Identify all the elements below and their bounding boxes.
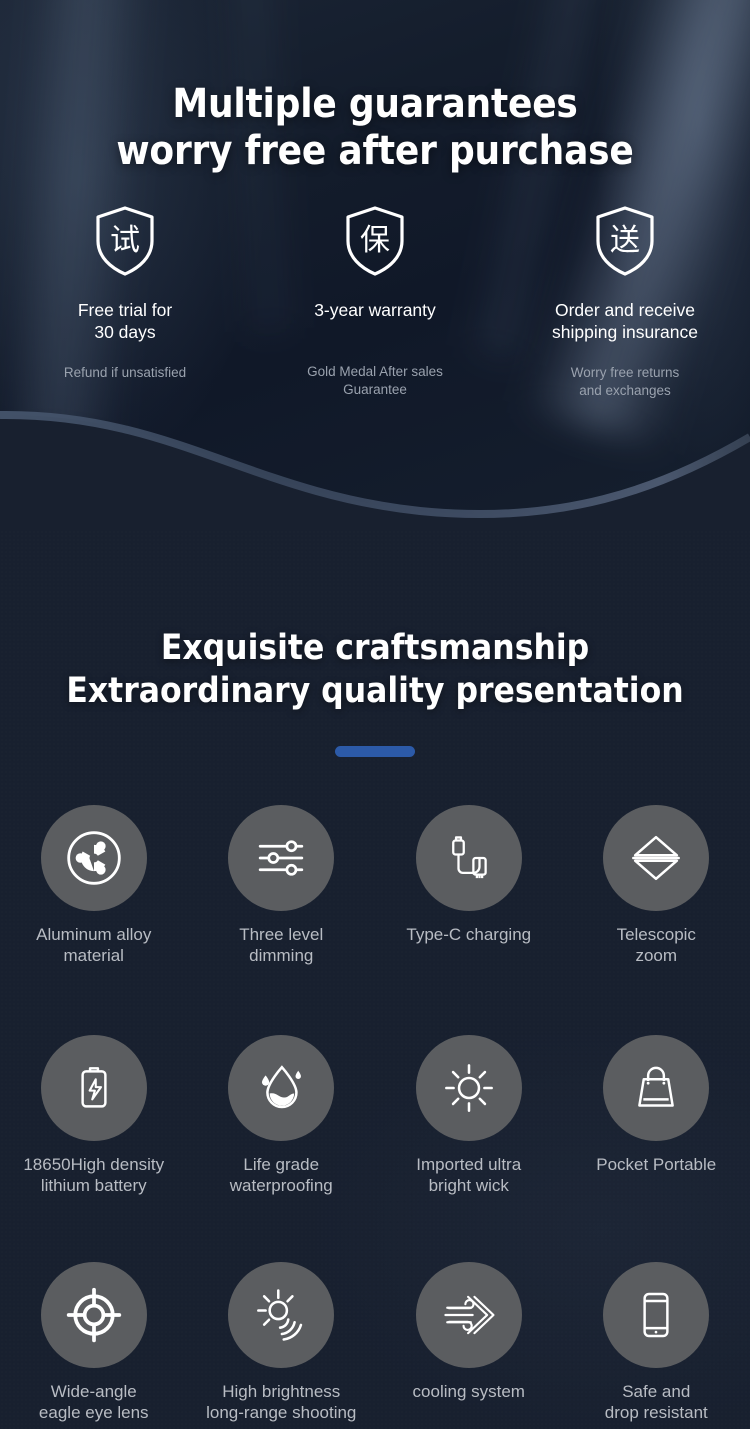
feature-label-line-1: Aluminum alloy <box>36 925 151 944</box>
feature-row: Wide-angle eagle eye lens <box>0 1262 750 1424</box>
feature-label-line-1: Three level <box>239 925 323 944</box>
svg-text:保: 保 <box>360 223 390 258</box>
feature-item-three-level-dimming[interactable]: Three level dimming <box>188 805 376 967</box>
handbag-icon <box>603 1035 709 1141</box>
battery-charge-icon <box>41 1035 147 1141</box>
feature-label-line-2: eagle eye lens <box>39 1403 149 1422</box>
feature-label-line-2: waterproofing <box>230 1176 333 1195</box>
section-title-line-2: Extraordinary quality presentation <box>0 670 750 713</box>
water-drop-icon <box>228 1035 334 1141</box>
top-edge-highlight <box>0 0 750 4</box>
feature-label-line-1: Type-C charging <box>406 925 531 944</box>
product-feature-page: Multiple guarantees worry free after pur… <box>0 0 750 1429</box>
feature-row: Aluminum alloy material <box>0 805 750 967</box>
feature-label-line-1: Wide-angle <box>51 1382 137 1401</box>
feature-label-line-1: Pocket Portable <box>596 1155 716 1174</box>
guarantee-title-line-1: Order and receive <box>555 300 695 320</box>
feature-label: High brightness long-range shooting <box>206 1381 356 1424</box>
guarantee-list: 试 Free trial for 30 days Refund if unsat… <box>0 205 750 399</box>
feature-label: Type-C charging <box>406 924 531 945</box>
row-spacer <box>0 1196 750 1262</box>
svg-text:试: 试 <box>110 223 140 258</box>
feature-item-aluminum-alloy[interactable]: Aluminum alloy material <box>0 805 188 967</box>
guarantee-title: Free trial for 30 days <box>78 299 172 344</box>
shield-warranty-icon: 保 <box>342 205 408 277</box>
feature-label-line-1: High brightness <box>222 1382 340 1401</box>
guarantee-item-warranty[interactable]: 保 3-year warranty Gold Medal After sales… <box>250 205 500 399</box>
feature-item-cooling-system[interactable]: cooling system <box>375 1262 563 1424</box>
sun-brightness-icon <box>416 1035 522 1141</box>
feature-item-long-range-shooting[interactable]: High brightness long-range shooting <box>188 1262 376 1424</box>
feature-label: Pocket Portable <box>596 1154 716 1175</box>
feature-item-lithium-battery[interactable]: 18650High density lithium battery <box>0 1035 188 1197</box>
guarantee-title: 3-year warranty <box>314 299 436 343</box>
guarantee-title-line-2: shipping insurance <box>552 322 698 342</box>
feature-label-line-2: drop resistant <box>605 1403 708 1422</box>
shield-trial-icon: 试 <box>92 205 158 277</box>
feature-label: Life grade waterproofing <box>230 1154 333 1197</box>
guarantee-sub-line-1: Refund if unsatisfied <box>64 365 186 380</box>
feature-label-line-1: Life grade <box>243 1155 319 1174</box>
crosshair-icon <box>41 1262 147 1368</box>
feature-grid: Aluminum alloy material <box>0 805 750 1424</box>
feature-label: Aluminum alloy material <box>36 924 151 967</box>
feature-label-line-2: dimming <box>249 946 313 965</box>
feature-label-line-2: lithium battery <box>41 1176 147 1195</box>
shield-shipping-icon: 送 <box>592 205 658 277</box>
feature-item-waterproofing[interactable]: Life grade waterproofing <box>188 1035 376 1197</box>
feature-label: cooling system <box>413 1381 525 1402</box>
guarantee-item-shipping-insurance[interactable]: 送 Order and receive shipping insurance W… <box>500 205 750 399</box>
feature-label-line-2: material <box>64 946 124 965</box>
feature-label: 18650High density lithium battery <box>23 1154 164 1197</box>
feature-label-line-1: Telescopic <box>617 925 696 944</box>
sun-beam-icon <box>228 1262 334 1368</box>
guarantee-sub-line-1: Worry free returns <box>571 365 680 380</box>
feature-label-line-2: bright wick <box>429 1176 509 1195</box>
section-title: Exquisite craftsmanship Extraordinary qu… <box>0 627 750 713</box>
feature-item-type-c-charging[interactable]: Type-C charging <box>375 805 563 967</box>
feature-label: Wide-angle eagle eye lens <box>39 1381 149 1424</box>
feature-label: Imported ultra bright wick <box>416 1154 521 1197</box>
feature-item-pocket-portable[interactable]: Pocket Portable <box>563 1035 750 1197</box>
hero-title-line-1: Multiple guarantees <box>172 81 577 127</box>
usb-cable-icon <box>416 805 522 911</box>
feature-label-line-2: zoom <box>635 946 677 965</box>
section-title-line-1: Exquisite craftsmanship <box>161 628 589 668</box>
guarantee-title: Order and receive shipping insurance <box>552 299 698 344</box>
feature-label: Telescopic zoom <box>617 924 696 967</box>
svg-text:送: 送 <box>610 223 640 258</box>
airflow-arrow-icon <box>416 1262 522 1368</box>
guarantee-title-line-1: 3-year warranty <box>314 300 436 320</box>
feature-item-bright-wick[interactable]: Imported ultra bright wick <box>375 1035 563 1197</box>
feature-label: Safe and drop resistant <box>605 1381 708 1424</box>
accent-bar <box>335 746 415 757</box>
feature-label-line-2: long-range shooting <box>206 1403 356 1422</box>
guarantee-title-line-2: 30 days <box>94 322 155 342</box>
guarantee-title-line-1: Free trial for <box>78 300 172 320</box>
hero-title: Multiple guarantees worry free after pur… <box>0 81 750 175</box>
aluminum-alloy-icon <box>41 805 147 911</box>
feature-row: 18650High density lithium battery Life g… <box>0 1035 750 1197</box>
feature-item-eagle-eye-lens[interactable]: Wide-angle eagle eye lens <box>0 1262 188 1424</box>
feature-label-line-1: 18650High density <box>23 1155 164 1174</box>
guarantee-item-free-trial[interactable]: 试 Free trial for 30 days Refund if unsat… <box>0 205 250 399</box>
feature-label-line-1: Safe and <box>622 1382 690 1401</box>
guarantee-subtitle: Refund if unsatisfied <box>64 364 186 382</box>
row-spacer <box>0 967 750 1035</box>
feature-label: Three level dimming <box>239 924 323 967</box>
feature-item-telescopic-zoom[interactable]: Telescopic zoom <box>563 805 750 967</box>
guarantee-sub-line-1: Gold Medal After sales <box>307 364 443 379</box>
feature-label-line-1: Imported ultra <box>416 1155 521 1174</box>
feature-label-line-1: cooling system <box>413 1382 525 1401</box>
telescopic-zoom-icon <box>603 805 709 911</box>
smartphone-icon <box>603 1262 709 1368</box>
hero-title-line-2: worry free after purchase <box>0 128 750 175</box>
feature-item-drop-resistant[interactable]: Safe and drop resistant <box>563 1262 750 1424</box>
sliders-icon <box>228 805 334 911</box>
